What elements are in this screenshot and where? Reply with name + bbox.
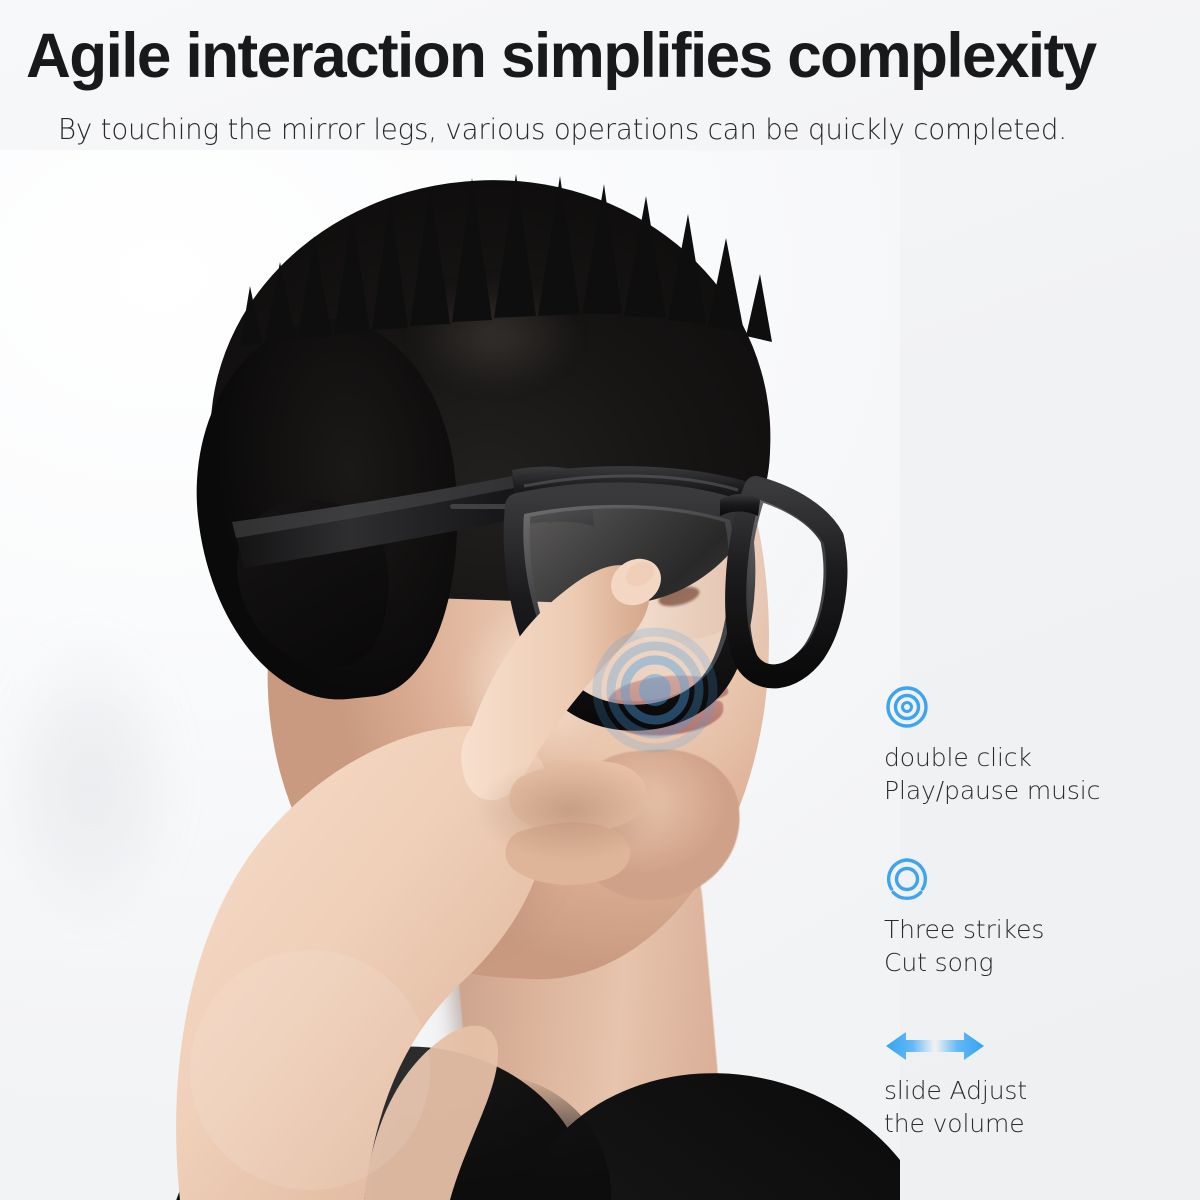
concentric-rings-icon <box>884 684 930 730</box>
hand <box>120 170 860 1200</box>
double-arrow-icon <box>884 1029 986 1063</box>
page-title: Agile interaction simplifies complexity <box>26 24 1159 88</box>
legend-item-three-strikes[interactable]: Three strikes Cut song <box>884 856 1184 979</box>
legend-item-slide[interactable]: slide Adjust the volume <box>884 1029 1184 1140</box>
legend-label-double-click: double click Play/pause music <box>884 742 1184 807</box>
legend-item-double-click[interactable]: double click Play/pause music <box>884 684 1184 807</box>
product-feature-slide: Agile interaction simplifies complexity … <box>0 0 1200 1200</box>
wrist-highlight <box>190 950 430 1190</box>
legend-label-three-strikes: Three strikes Cut song <box>884 914 1184 979</box>
page-subtitle: By touching the mirror legs, various ope… <box>58 114 1144 147</box>
knuckle-shading <box>475 758 665 862</box>
segmented-rings-icon <box>884 856 930 902</box>
model-head <box>120 170 860 1200</box>
header: Agile interaction simplifies complexity … <box>0 0 1200 172</box>
legend-label-slide: slide Adjust the volume <box>884 1075 1184 1140</box>
product-photo <box>0 150 900 1200</box>
